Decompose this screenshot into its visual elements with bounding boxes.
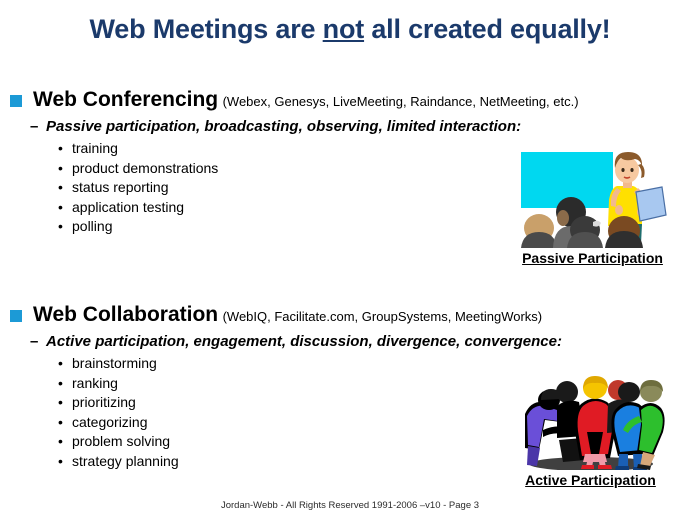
passive-participation-caption: Passive Participation xyxy=(500,250,685,266)
section-heading-title: Web Conferencing xyxy=(33,88,218,111)
list-item-label: strategy planning xyxy=(72,453,179,469)
section-subheading-row: – Passive participation, broadcasting, o… xyxy=(0,118,700,135)
passive-participation-figure: Passive Participation xyxy=(500,148,685,266)
slide-footer: Jordan-Webb - All Rights Reserved 1991-2… xyxy=(0,500,700,511)
page-title: Web Meetings are not all created equally… xyxy=(0,14,700,45)
list-item-label: ranking xyxy=(72,375,118,391)
section-heading-note: (Webex, Genesys, LiveMeeting, Raindance,… xyxy=(223,94,579,109)
list-item-label: application testing xyxy=(72,199,184,215)
dot-bullet-icon: • xyxy=(58,413,63,433)
dot-bullet-icon: • xyxy=(58,159,63,179)
section-heading-row: Web Collaboration (WebIQ, Facilitate.com… xyxy=(0,303,700,329)
dot-bullet-icon: • xyxy=(58,432,63,452)
active-participation-figure: Active Participation xyxy=(498,370,683,488)
list-item-label: brainstorming xyxy=(72,355,157,371)
title-text-part2: all created equally! xyxy=(364,14,610,44)
list-item-label: product demonstrations xyxy=(72,160,218,176)
square-bullet-icon xyxy=(10,310,22,322)
passive-participation-illustration xyxy=(505,148,680,248)
dot-bullet-icon: • xyxy=(58,198,63,218)
dot-bullet-icon: • xyxy=(58,452,63,472)
list-item-label: prioritizing xyxy=(72,394,136,410)
dot-bullet-icon: • xyxy=(58,393,63,413)
section-subheading-text: Passive participation, broadcasting, obs… xyxy=(46,118,521,135)
section-subheading-text: Active participation, engagement, discus… xyxy=(46,333,562,350)
dash-bullet-icon: – xyxy=(30,118,38,135)
active-participation-illustration xyxy=(503,370,678,470)
dot-bullet-icon: • xyxy=(58,374,63,394)
section-subheading-row: – Active participation, engagement, disc… xyxy=(0,333,700,350)
list-item-label: training xyxy=(72,140,118,156)
dot-bullet-icon: • xyxy=(58,217,63,237)
list-item-label: categorizing xyxy=(72,414,148,430)
dot-bullet-icon: • xyxy=(58,354,63,374)
title-text-part1: Web Meetings are xyxy=(90,14,323,44)
dot-bullet-icon: • xyxy=(58,178,63,198)
section-heading-note: (WebIQ, Facilitate.com, GroupSystems, Me… xyxy=(223,309,543,324)
section-heading-title: Web Collaboration xyxy=(33,303,218,326)
list-item-label: polling xyxy=(72,218,112,234)
dot-bullet-icon: • xyxy=(58,139,63,159)
square-bullet-icon xyxy=(10,95,22,107)
active-participation-caption: Active Participation xyxy=(498,472,683,488)
list-item-label: problem solving xyxy=(72,433,170,449)
list-item-label: status reporting xyxy=(72,179,169,195)
dash-bullet-icon: – xyxy=(30,333,38,350)
section-heading-row: Web Conferencing (Webex, Genesys, LiveMe… xyxy=(0,88,700,114)
title-emphasis-not: not xyxy=(323,14,364,44)
